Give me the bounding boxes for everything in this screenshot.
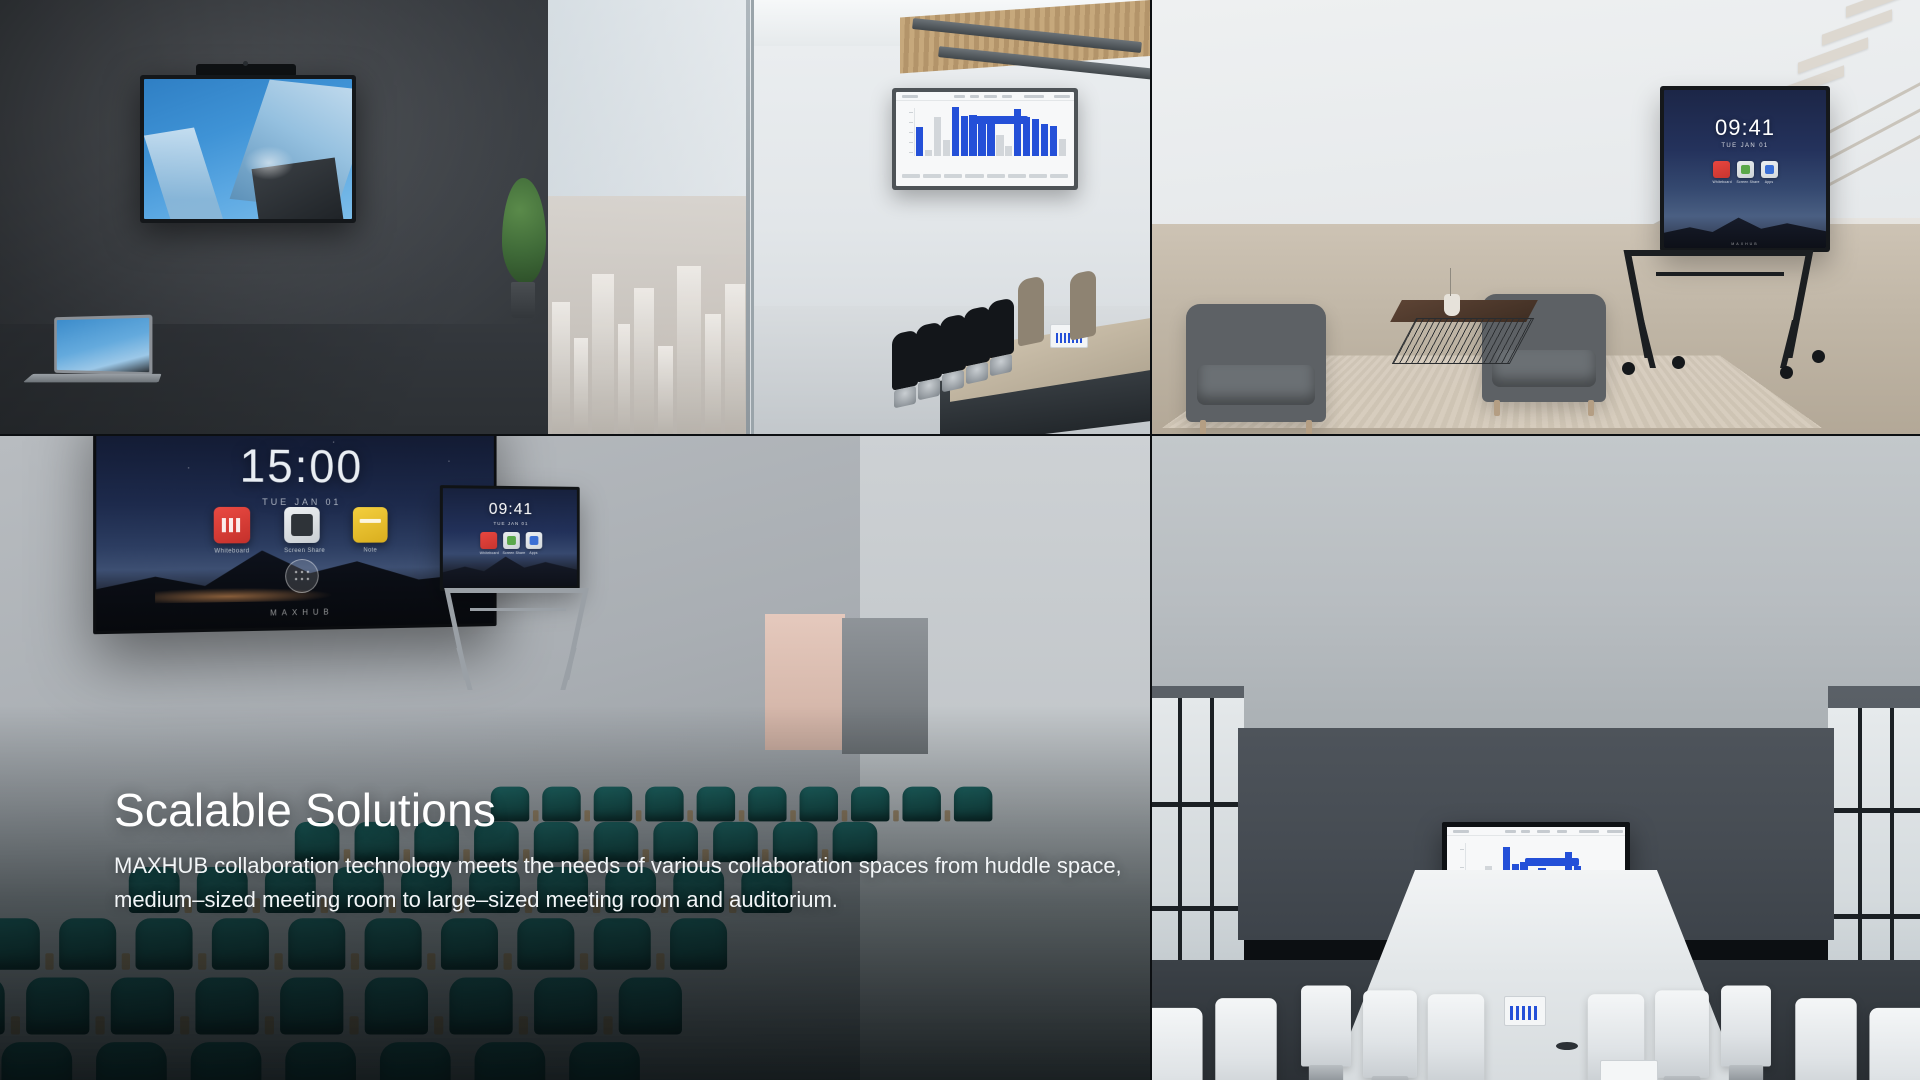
coffee-table (1396, 300, 1532, 364)
app-label: Screen Share (284, 548, 320, 554)
whiteboard-icon (480, 532, 497, 549)
chair-row (892, 254, 1142, 434)
clock-date: TUE JAN 01 (96, 497, 494, 508)
screen-share-icon (284, 507, 320, 543)
building-shape (144, 128, 224, 219)
clock-date: TUE JAN 01 (1664, 143, 1826, 149)
app-apps[interactable]: Apps (1761, 161, 1778, 184)
lounge-display-screen: 09:41 TUE JAN 01 Whiteboard Screen Share… (1664, 90, 1826, 248)
plant-pot (511, 282, 535, 318)
laptop-screen (57, 318, 149, 372)
app-label: Apps (525, 551, 542, 555)
boardroom-chair (1301, 985, 1351, 1066)
bar-chart (907, 108, 1066, 164)
doorway (842, 618, 928, 754)
city-view (548, 196, 748, 434)
armchair (1186, 304, 1326, 422)
app-screen-share[interactable]: Screen Share (1737, 161, 1754, 184)
display-stand (1628, 250, 1860, 390)
panel-boardroom-space (1152, 436, 1920, 1080)
chart-tooltip (1525, 858, 1579, 866)
app-label: Note (353, 548, 388, 554)
dashboard-screen (896, 92, 1074, 186)
huddle-laptop (28, 316, 160, 388)
note-icon (353, 507, 388, 543)
app-label: Apps (1761, 180, 1778, 184)
boardroom-chair (1869, 1008, 1920, 1080)
plant-foliage (502, 178, 546, 284)
app-shortcut-row: Whiteboard Screen Share Apps (443, 532, 577, 555)
lounge-stand-display: 09:41 TUE JAN 01 Whiteboard Screen Share… (1660, 86, 1830, 252)
screen-share-icon (1737, 161, 1754, 178)
page-title: Scalable Solutions (114, 786, 1124, 836)
chart-tooltip (974, 116, 1028, 124)
boardroom-chair (1428, 994, 1484, 1080)
whiteboard-icon (214, 507, 250, 544)
chart-bars (916, 100, 1066, 156)
app-whiteboard[interactable]: Whiteboard (214, 507, 250, 555)
boardroom-chair (1363, 990, 1417, 1077)
boardroom-chair (1655, 990, 1709, 1077)
boardroom-chair (1152, 1008, 1203, 1080)
vase (1444, 294, 1460, 316)
clock-time: 09:41 (489, 501, 533, 518)
meeting-room-display (892, 88, 1078, 190)
panel-auditorium-space: 15:00 TUE JAN 01 Whiteboard Screen Share… (0, 436, 1150, 1080)
page-description: MAXHUB collaboration technology meets th… (114, 849, 1124, 917)
display-stand (448, 588, 592, 694)
app-screen-share[interactable]: Screen Share (284, 507, 320, 554)
app-whiteboard[interactable]: Whiteboard (480, 532, 497, 555)
app-whiteboard[interactable]: Whiteboard (1713, 161, 1730, 184)
dashboard-footer (902, 169, 1068, 183)
auditorium-stand-display: 09:41 TUE JAN 01 Whiteboard Screen Share… (440, 485, 580, 591)
app-shortcut-row: Whiteboard Screen Share Note (96, 507, 494, 556)
boardroom-chair (1795, 998, 1856, 1080)
stand-display-screen: 09:41 TUE JAN 01 Whiteboard Screen Share… (443, 488, 577, 588)
app-apps[interactable]: Apps (525, 532, 542, 555)
clock-date: TUE JAN 01 (443, 520, 577, 525)
table-laptop (1600, 1060, 1658, 1080)
whiteboard-icon (1713, 161, 1730, 178)
huddle-display-screen (144, 79, 352, 219)
app-label: Whiteboard (480, 551, 497, 555)
clock-time: 09:41 (1715, 115, 1775, 140)
glass-corridor (548, 0, 1150, 434)
scalable-solutions-collage: 09:41 TUE JAN 01 Whiteboard Screen Share… (0, 0, 1920, 1080)
app-screen-share[interactable]: Screen Share (503, 532, 520, 555)
app-label: Whiteboard (214, 549, 250, 555)
screen-share-icon (503, 532, 520, 549)
auditorium-main-display: 15:00 TUE JAN 01 Whiteboard Screen Share… (93, 436, 496, 634)
display-clock: 09:41 TUE JAN 01 (1664, 115, 1826, 149)
panel-huddle-space (0, 0, 1150, 434)
boardroom-chair (1721, 985, 1771, 1066)
app-label: Screen Share (1737, 180, 1754, 184)
laptop-keyboard (23, 374, 162, 382)
display-clock: 09:41 TUE JAN 01 (443, 500, 577, 526)
table-laptop (1504, 996, 1546, 1026)
app-shortcut-row: Whiteboard Screen Share Apps (1664, 161, 1826, 184)
app-label: Screen Share (503, 551, 520, 555)
apps-icon (1761, 161, 1778, 178)
boardroom-chair (1215, 998, 1276, 1080)
auditorium-display-screen: 15:00 TUE JAN 01 Whiteboard Screen Share… (96, 436, 494, 631)
boardroom-ceiling (1152, 436, 1920, 736)
huddle-wall-display (140, 75, 356, 223)
overlay-copy: Scalable Solutions MAXHUB collaboration … (114, 786, 1124, 917)
laptop-lid (54, 315, 152, 376)
clock-time: 15:00 (240, 440, 364, 493)
wall-niche (765, 614, 845, 750)
app-note[interactable]: Note (353, 507, 388, 554)
conference-mic (1556, 1042, 1578, 1050)
potted-plant (500, 178, 546, 318)
chart-y-axis (907, 108, 915, 156)
panel-lounge-space: 09:41 TUE JAN 01 Whiteboard Screen Share… (1152, 0, 1920, 434)
display-brand: MAXHUB (1664, 242, 1826, 246)
display-clock: 15:00 TUE JAN 01 (96, 437, 494, 508)
lens-flare (244, 146, 294, 180)
apps-icon (525, 532, 542, 549)
app-label: Whiteboard (1713, 180, 1730, 184)
